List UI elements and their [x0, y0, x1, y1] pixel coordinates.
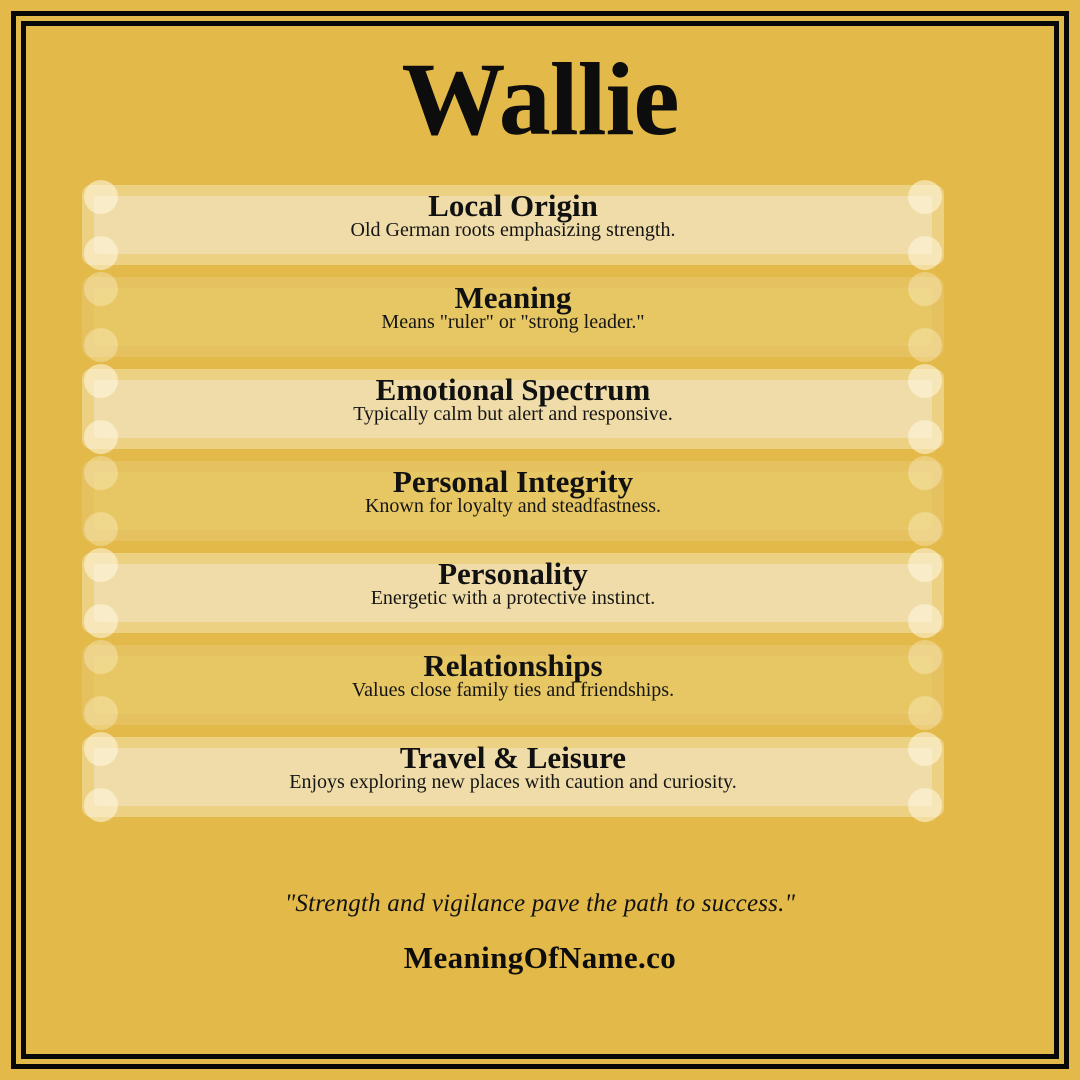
section-card-travel-leisure: Travel & Leisure Enjoys exploring new pl… [82, 737, 944, 817]
card-description: Energetic with a protective instinct. [371, 588, 656, 609]
card-text: Personal Integrity Known for loyalty and… [82, 461, 944, 541]
card-text: Meaning Means "ruler" or "strong leader.… [82, 277, 944, 357]
card-description: Values close family ties and friendships… [352, 680, 674, 701]
name-meaning-poster: Wallie Local Origin Old German roots emp… [0, 0, 1080, 1080]
section-card-local-origin: Local Origin Old German roots emphasizin… [82, 185, 944, 265]
page-title: Wallie [401, 44, 678, 156]
card-heading: Emotional Spectrum [376, 373, 651, 406]
card-heading: Travel & Leisure [400, 741, 626, 774]
poster-footer: "Strength and vigilance pave the path to… [0, 890, 1080, 976]
card-description: Typically calm but alert and responsive. [353, 404, 673, 425]
section-card-meaning: Meaning Means "ruler" or "strong leader.… [82, 277, 944, 357]
card-text: Emotional Spectrum Typically calm but al… [82, 369, 944, 449]
card-text: Local Origin Old German roots emphasizin… [82, 185, 944, 265]
section-card-personal-integrity: Personal Integrity Known for loyalty and… [82, 461, 944, 541]
footer-brand: MeaningOfName.co [0, 940, 1080, 976]
card-description: Enjoys exploring new places with caution… [289, 772, 737, 793]
section-card-list: Local Origin Old German roots emphasizin… [82, 185, 944, 829]
card-description: Known for loyalty and steadfastness. [365, 496, 661, 517]
card-heading: Meaning [454, 281, 571, 314]
card-text: Personality Energetic with a protective … [82, 553, 944, 633]
card-heading: Personality [438, 557, 588, 590]
section-card-emotional-spectrum: Emotional Spectrum Typically calm but al… [82, 369, 944, 449]
card-text: Travel & Leisure Enjoys exploring new pl… [82, 737, 944, 817]
card-heading: Personal Integrity [393, 465, 633, 498]
section-card-relationships: Relationships Values close family ties a… [82, 645, 944, 725]
card-description: Means "ruler" or "strong leader." [381, 312, 644, 333]
card-heading: Relationships [423, 649, 602, 682]
card-heading: Local Origin [428, 189, 598, 222]
card-text: Relationships Values close family ties a… [82, 645, 944, 725]
footer-quote: "Strength and vigilance pave the path to… [0, 890, 1080, 918]
section-card-personality: Personality Energetic with a protective … [82, 553, 944, 633]
card-description: Old German roots emphasizing strength. [351, 220, 676, 241]
